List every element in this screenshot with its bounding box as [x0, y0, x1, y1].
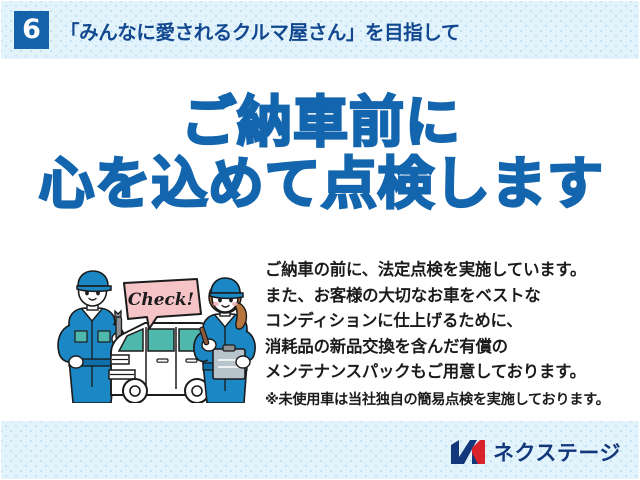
headline-line-1: ご納車前に [1, 92, 640, 154]
headline-line-2: 心を込めて点検します [1, 154, 640, 217]
check-speech-bubble: Check! [124, 279, 201, 329]
van-illustration [109, 323, 210, 403]
brand-name: ネクステージ [493, 437, 621, 467]
nextage-n-logo-icon [450, 439, 486, 465]
page-title: ご納車前に 心を込めて点検します [1, 92, 640, 216]
body-line-3: コンディションに仕上げるために、 [265, 308, 637, 334]
body-line-5: メンテナンスパックもご用意しております。 [265, 359, 637, 385]
body-line-1: ご納車の前に、法定点検を実施しています。 [265, 257, 637, 283]
header-bar: 6 「みんなに愛されるクルマ屋さん」を目指して [1, 1, 640, 59]
body-note: ※未使用車は当社独自の簡易点検を実施しております。 [265, 388, 637, 414]
body-line-4: 消耗品の新品交換を含んだ有償の [265, 334, 637, 360]
body-line-2: また、お客様の大切なお車をベストな [265, 283, 637, 309]
step-number-badge: 6 [14, 11, 49, 49]
header-title: 「みんなに愛されるクルマ屋さん」を目指して [60, 16, 460, 45]
advertisement-root: 6 「みんなに愛されるクルマ屋さん」を目指して ご納車前に 心を込めて点検します [0, 0, 640, 480]
brand-logo: ネクステージ [450, 437, 621, 467]
check-bubble-label: Check! [128, 290, 194, 310]
content-panel: ご納車前に 心を込めて点検します [1, 59, 640, 421]
mechanics-illustration: Check! [53, 267, 261, 403]
body-copy: ご納車の前に、法定点検を実施しています。 また、お客様の大切なお車をベストな コ… [265, 257, 637, 414]
